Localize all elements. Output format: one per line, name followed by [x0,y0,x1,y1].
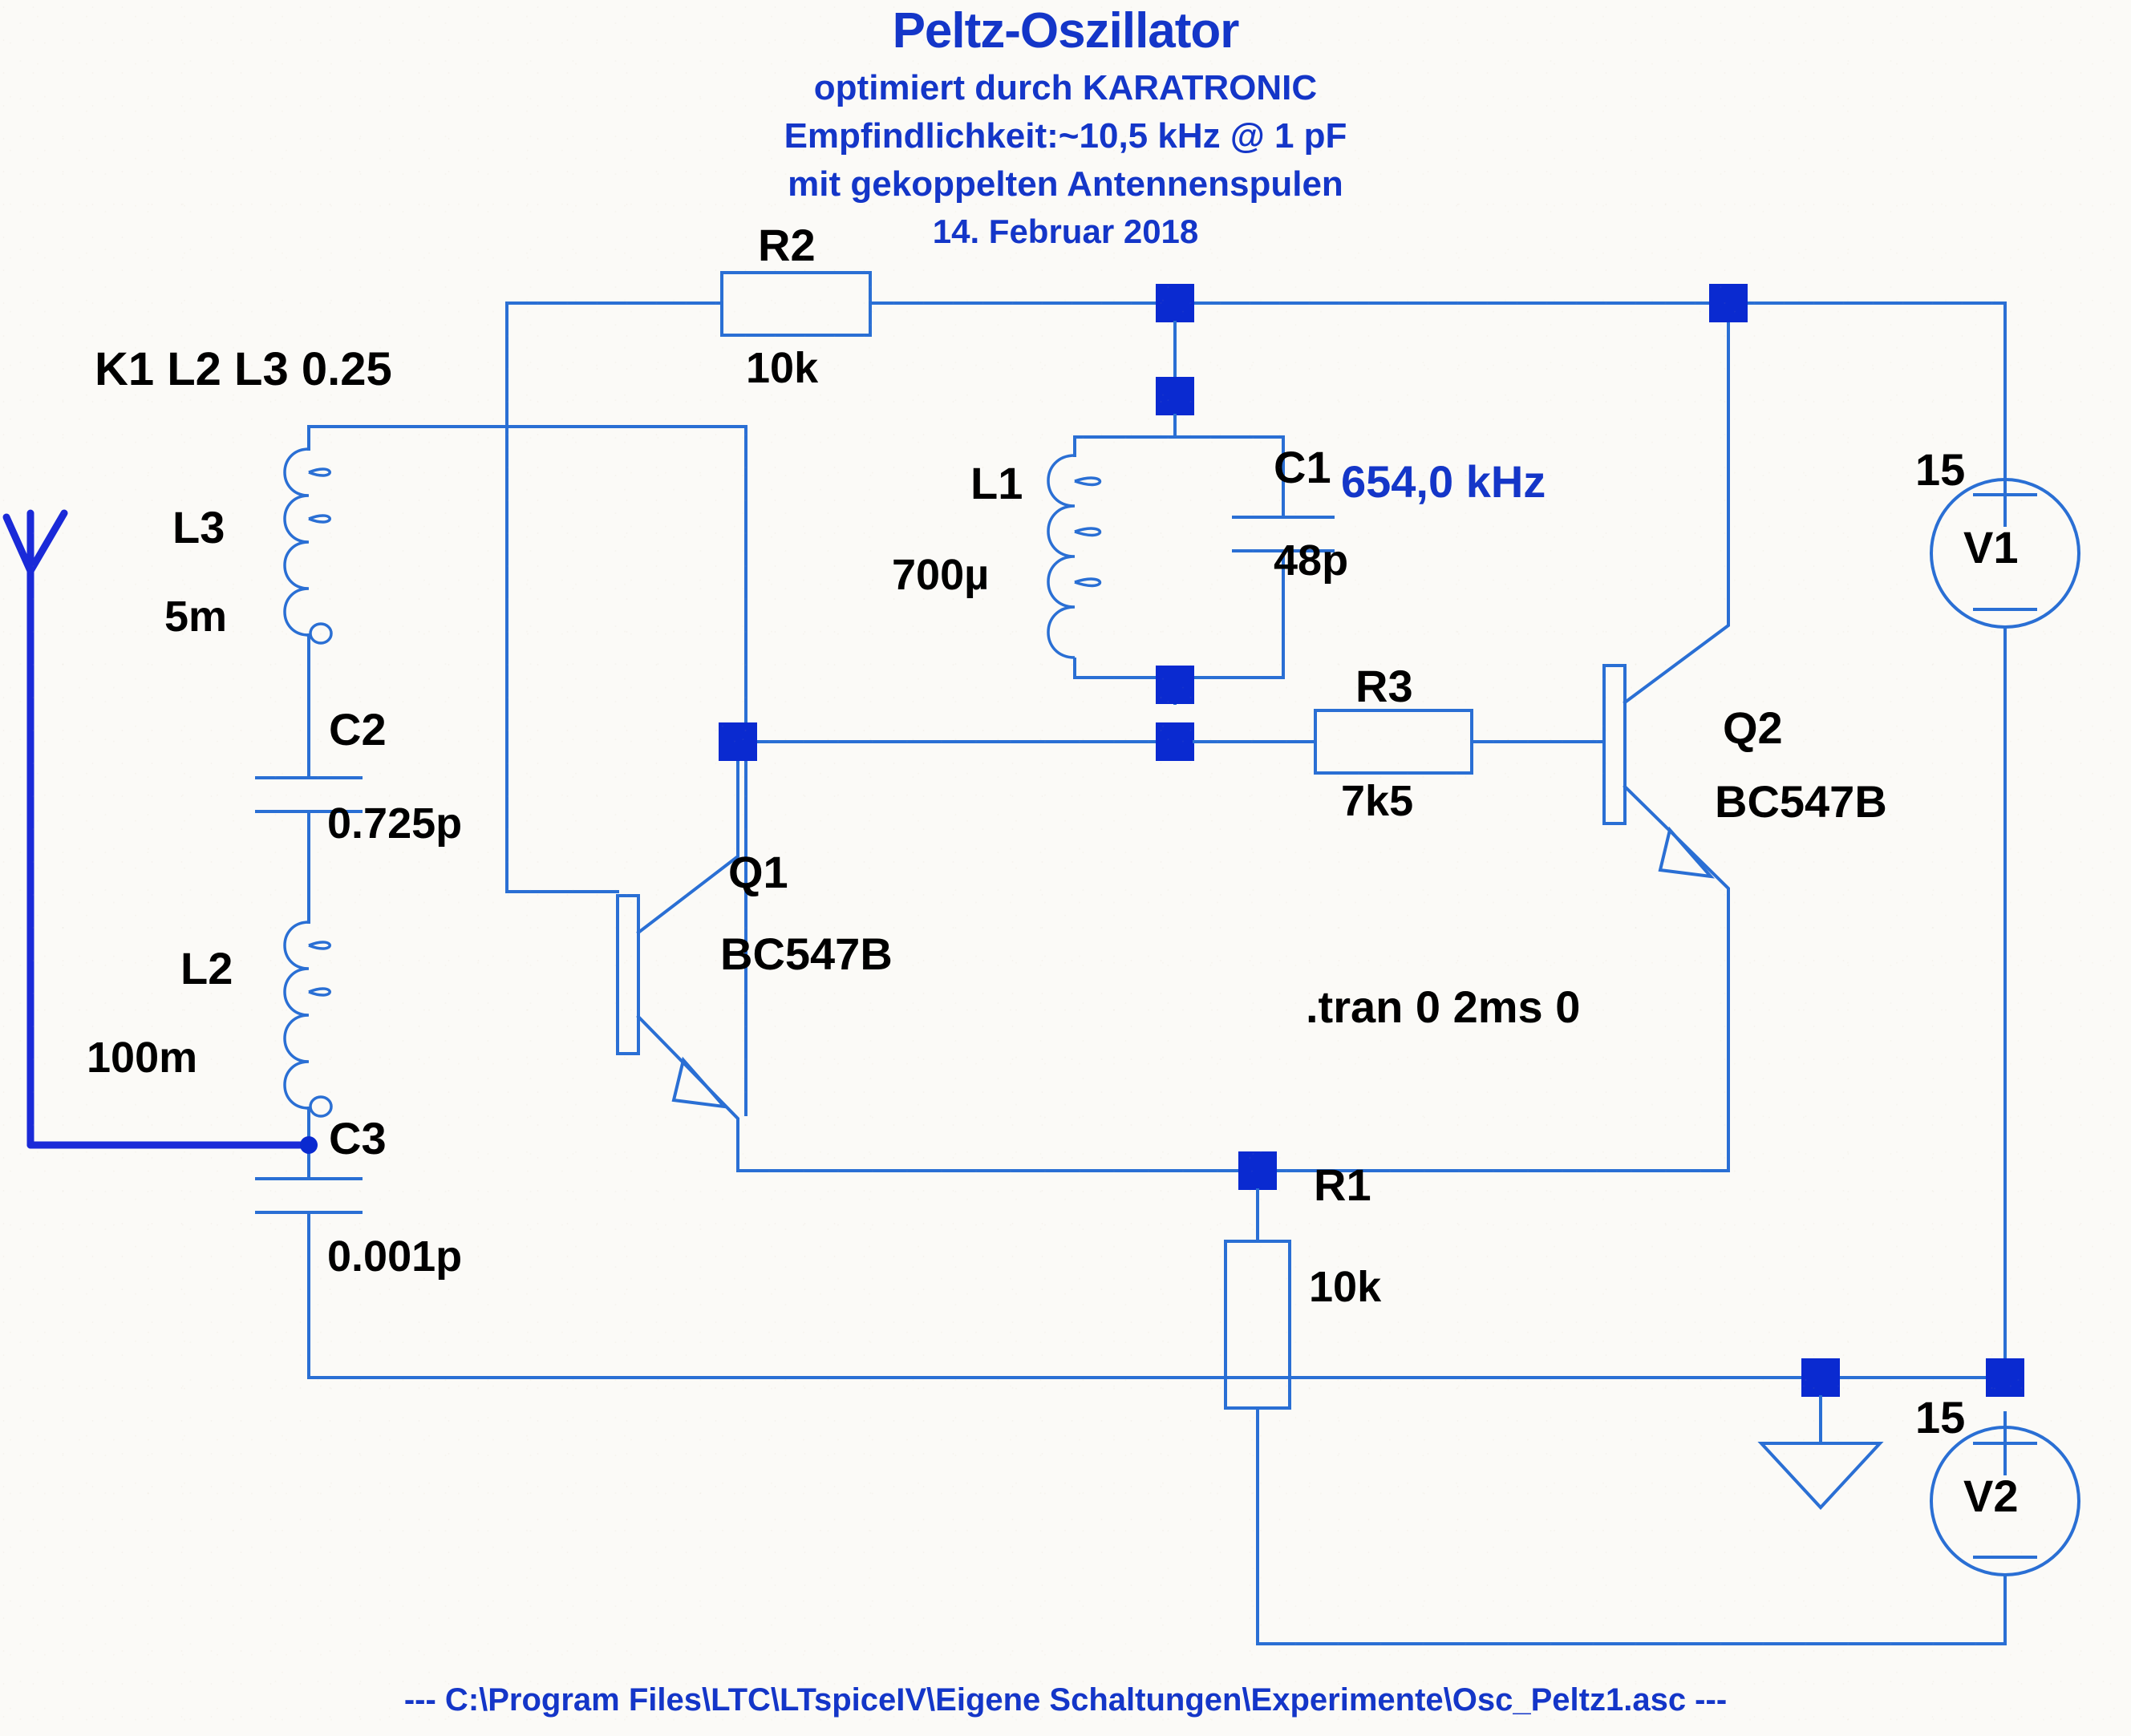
resistor-R3-body [1315,710,1472,773]
label-V1-val: 15 [1915,447,1965,492]
node-square-q1-collector [719,722,757,761]
node-square-tank-base-rail [1156,722,1194,761]
transistor-Q2-symbol [1604,322,1728,1171]
node-square-ground [1801,1358,1840,1397]
label-C3-ref: C3 [329,1116,387,1161]
label-C2-val: 0.725p [327,802,462,845]
label-C2-ref: C2 [329,707,387,752]
node-square-v2-top [1986,1358,2024,1397]
label-L1-ref: L1 [970,461,1023,506]
file-path-footer: --- C:\Program Files\LTC\LTspiceIV\Eigen… [0,1682,2131,1718]
label-R1-ref: R1 [1314,1163,1371,1208]
label-R3-val: 7k5 [1341,779,1413,823]
capacitor-C3-symbol [257,1179,361,1212]
resistor-R2-body [722,273,870,335]
label-V2-val: 15 [1915,1395,1965,1440]
node-square-tank-bottom [1156,666,1194,704]
node-square-tank-top [1156,377,1194,415]
inductor-L1-symbol [1048,455,1100,658]
label-V2-ref: V2 [1963,1474,2019,1519]
schematic-drawing: .w{stroke:#2a6fd4;stroke-width:4;fill:no… [0,0,2131,1736]
label-L3-ref: L3 [172,505,225,550]
label-Q2-val: BC547B [1715,779,1887,824]
label-C1-val: 48p [1274,539,1348,582]
node-square-q2-collector-rail [1709,284,1748,322]
label-Q2-ref: Q2 [1723,706,1783,751]
label-Q1-val: BC547B [720,932,893,977]
label-C3-val: 0.001p [327,1235,462,1278]
resistor-R1-body [1226,1241,1290,1408]
label-L1-val: 700µ [892,553,989,597]
junction-dot-antenna [300,1136,318,1154]
label-L2-ref: L2 [180,946,233,991]
label-R3-ref: R3 [1355,664,1413,709]
node-square-r1-top [1238,1151,1277,1190]
inductor-L2-symbol [285,922,331,1116]
label-resonant-frequency: 654,0 kHz [1341,455,1546,508]
label-Q1-ref: Q1 [728,850,788,895]
label-V1-ref: V1 [1963,525,2019,570]
schematic-sheet: Peltz-Oszillator optimiert durch KARATRO… [0,0,2131,1736]
inductor-L3-symbol [285,449,331,643]
label-R1-val: 10k [1309,1265,1381,1309]
directive-coupling: K1 L2 L3 0.25 [95,346,392,393]
label-C1-ref: C1 [1274,445,1331,490]
ground-icon [1761,1443,1880,1507]
label-L2-val: 100m [87,1036,197,1079]
label-R2-ref: R2 [758,223,816,268]
label-R2-val: 10k [746,346,818,390]
directive-tran: .tran 0 2ms 0 [1306,985,1580,1030]
label-L3-val: 5m [164,595,227,638]
node-square-tank-top-rail [1156,284,1194,322]
